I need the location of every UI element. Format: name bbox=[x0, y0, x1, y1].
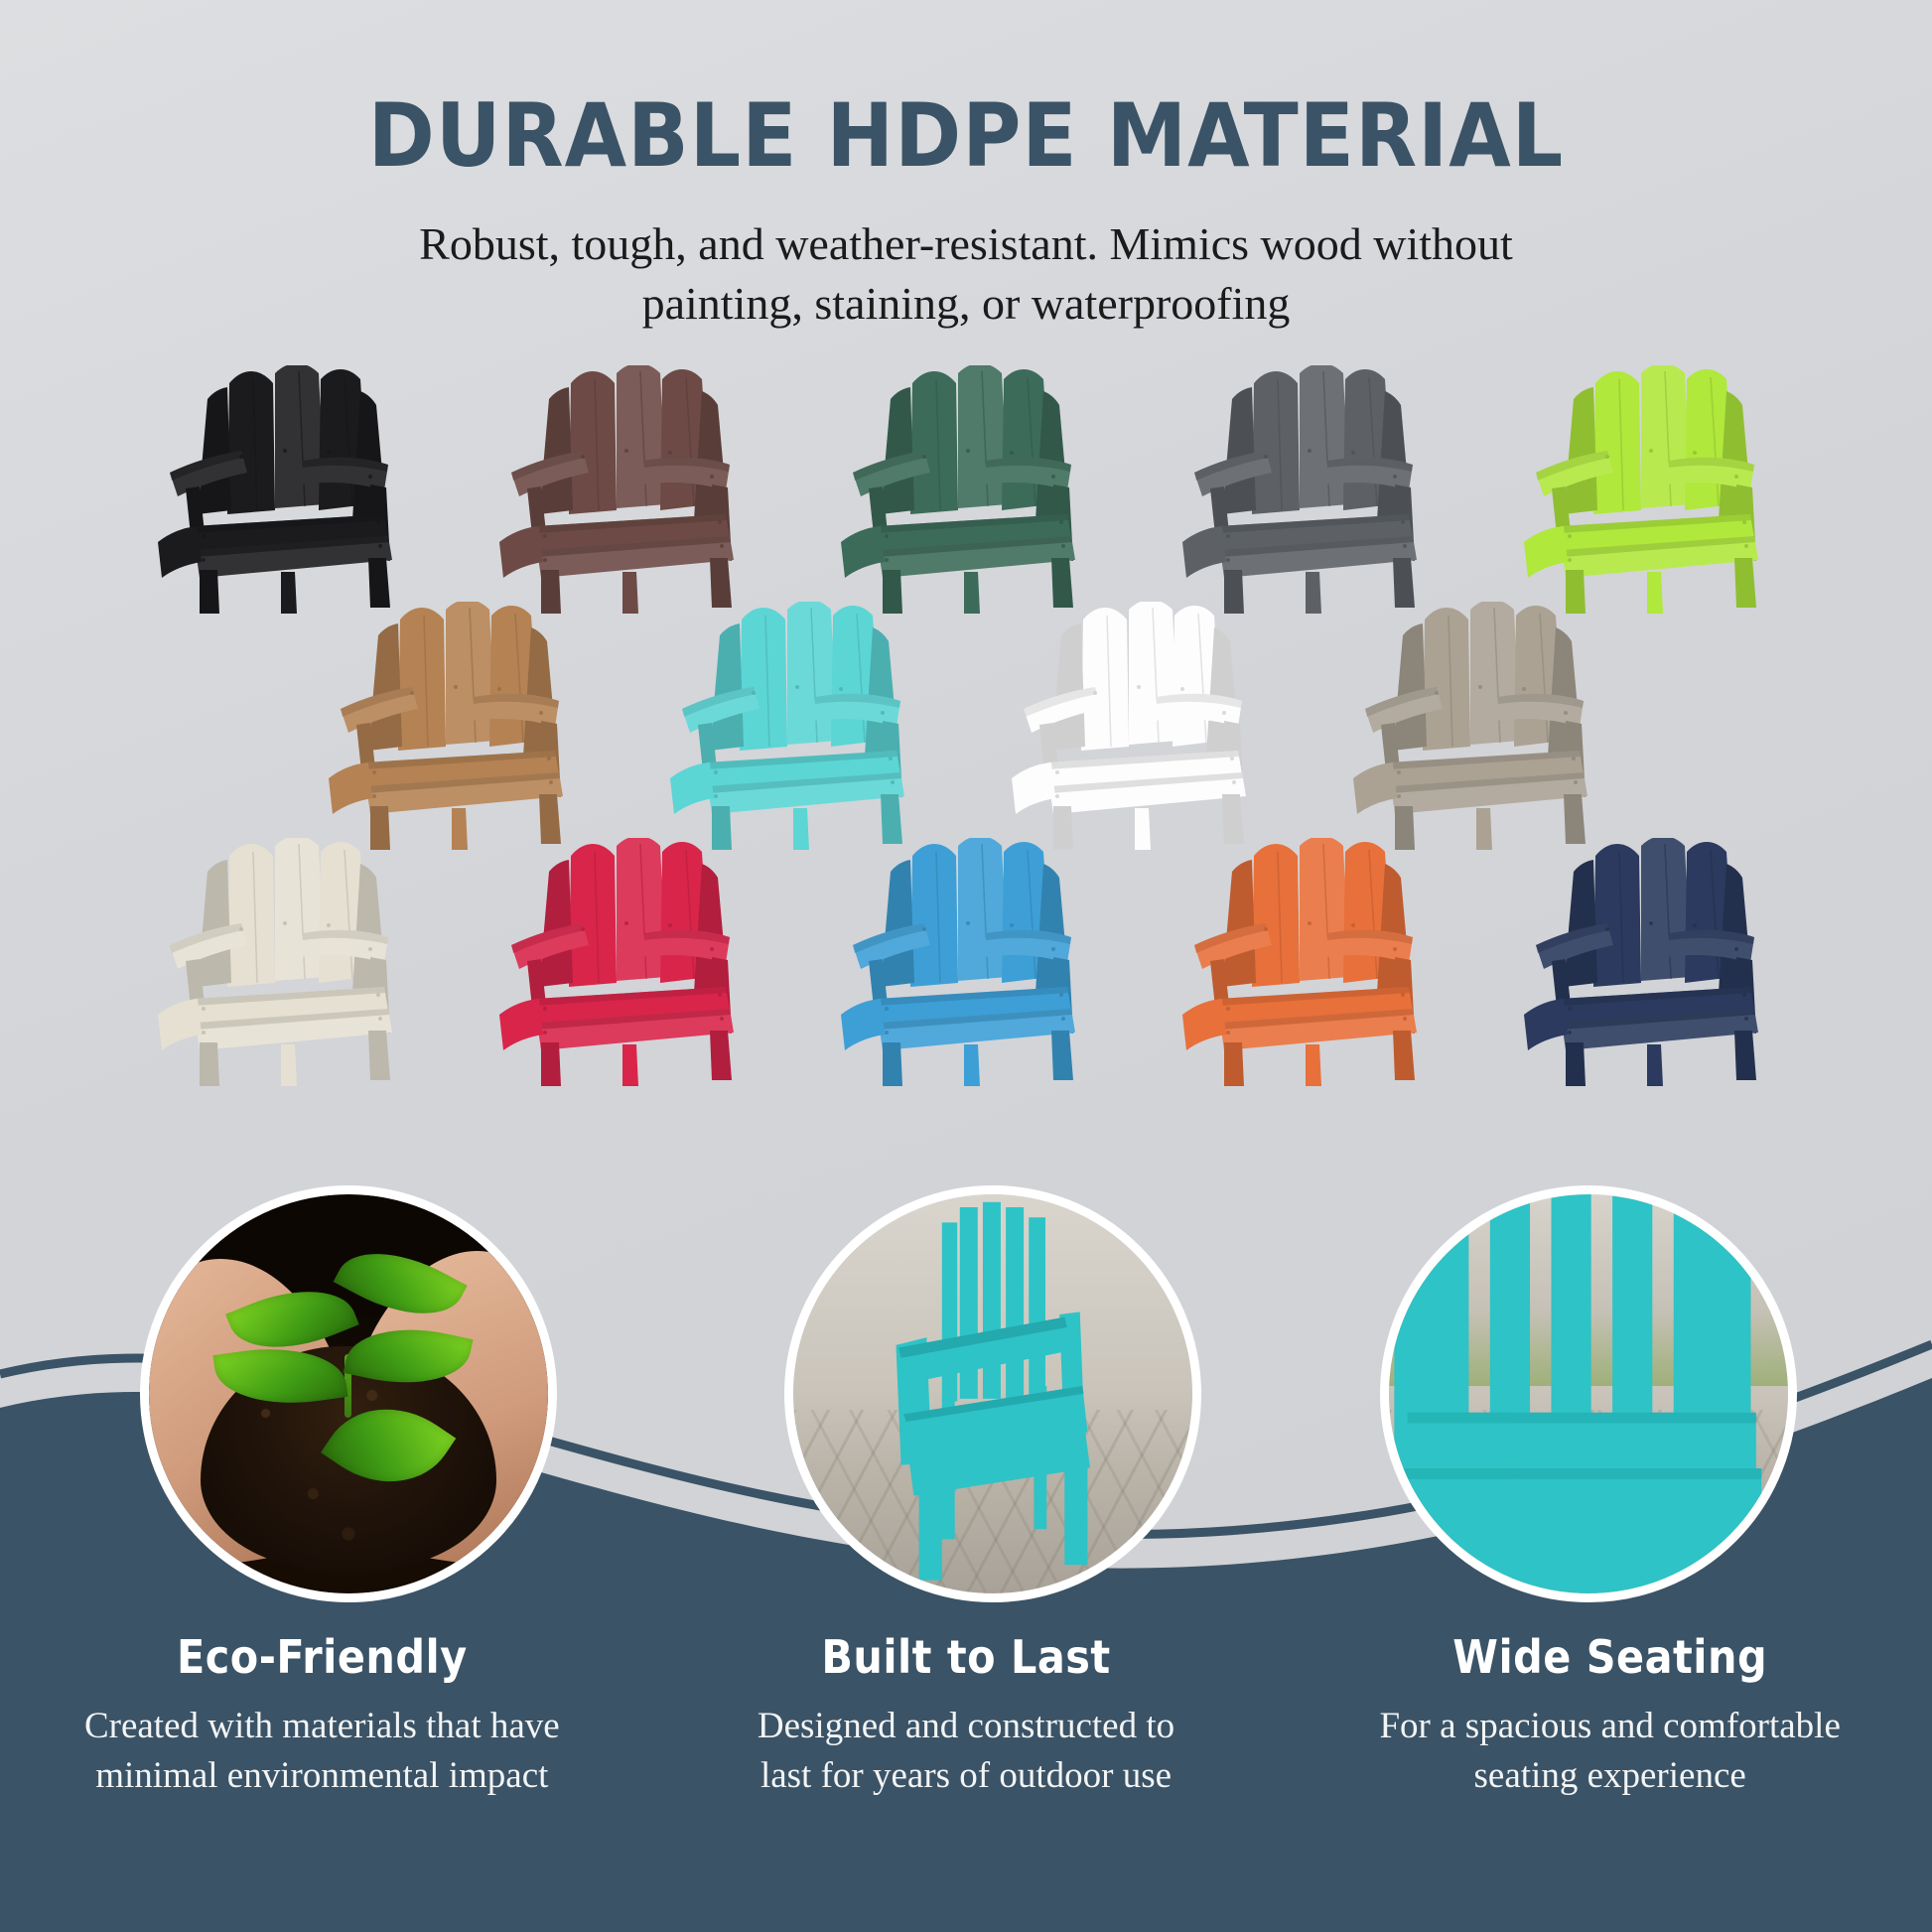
chair-swatch-orange[interactable] bbox=[1159, 838, 1456, 1086]
feature-eco-friendly: Eco-Friendly Created with materials that… bbox=[0, 1630, 644, 1800]
adirondack-chair-icon bbox=[817, 365, 1115, 614]
adirondack-chair-icon bbox=[817, 838, 1115, 1086]
adirondack-chair-icon bbox=[1500, 365, 1798, 614]
chair-swatch-red[interactable] bbox=[476, 838, 773, 1086]
chair-swatch-lime-green[interactable] bbox=[1500, 365, 1798, 614]
page-title: DURABLE HDPE MATERIAL bbox=[0, 91, 1932, 181]
feature-text-row: Eco-Friendly Created with materials that… bbox=[0, 1630, 1932, 1800]
hands-holding-seedling-photo bbox=[149, 1194, 548, 1593]
feature-desc-line-2: seating experience bbox=[1474, 1755, 1746, 1796]
turquoise-chair-wide-seat-closeup-photo bbox=[1389, 1194, 1788, 1593]
feature-desc-line-1: Created with materials that have bbox=[84, 1706, 560, 1746]
adirondack-chair-icon bbox=[476, 838, 773, 1086]
chair-swatch-turquoise[interactable] bbox=[646, 602, 944, 850]
chair-swatch-white[interactable] bbox=[988, 602, 1286, 850]
chair-swatch-dark-green[interactable] bbox=[817, 365, 1115, 614]
turquoise-chair-on-patio-photo bbox=[793, 1194, 1192, 1593]
chair-swatch-navy-blue[interactable] bbox=[1500, 838, 1798, 1086]
chair-swatch-light-blue[interactable] bbox=[817, 838, 1115, 1086]
adirondack-chair-icon bbox=[1329, 602, 1627, 850]
feature-built-to-last: Built to Last Designed and constructed t… bbox=[644, 1630, 1289, 1800]
feature-image-wide-seating bbox=[1380, 1185, 1797, 1602]
adirondack-chair-icon bbox=[134, 365, 432, 614]
adirondack-chair-icon bbox=[646, 602, 944, 850]
chair-swatch-brown[interactable] bbox=[476, 365, 773, 614]
feature-title: Wide Seating bbox=[1327, 1630, 1892, 1684]
adirondack-chair-icon bbox=[1159, 365, 1456, 614]
feature-image-eco-friendly bbox=[140, 1185, 557, 1602]
feature-desc-line-1: Designed and constructed to bbox=[758, 1706, 1174, 1746]
feature-title: Eco-Friendly bbox=[40, 1630, 605, 1684]
adirondack-chair-icon bbox=[1159, 838, 1456, 1086]
feature-description: For a spacious and comfortable seating e… bbox=[1327, 1702, 1892, 1800]
adirondack-chair-icon bbox=[305, 602, 603, 850]
feature-title: Built to Last bbox=[684, 1630, 1249, 1684]
chair-row-1 bbox=[0, 365, 1932, 614]
chair-swatch-black[interactable] bbox=[134, 365, 432, 614]
adirondack-chair-icon bbox=[476, 365, 773, 614]
feature-wide-seating: Wide Seating For a spacious and comforta… bbox=[1288, 1630, 1932, 1800]
feature-description: Designed and constructed to last for yea… bbox=[684, 1702, 1249, 1800]
chair-color-grid bbox=[0, 365, 1932, 1086]
header: DURABLE HDPE MATERIAL Robust, tough, and… bbox=[0, 91, 1932, 335]
chair-row-2 bbox=[0, 602, 1932, 850]
feature-desc-line-2: minimal environmental impact bbox=[95, 1755, 548, 1796]
adirondack-chair-icon bbox=[988, 602, 1286, 850]
chair-row-3 bbox=[0, 838, 1932, 1086]
turquoise-chair-seat-closeup-illustration bbox=[1389, 1194, 1788, 1593]
feature-image-built-to-last bbox=[784, 1185, 1201, 1602]
product-infographic-poster: DURABLE HDPE MATERIAL Robust, tough, and… bbox=[0, 0, 1932, 1932]
chair-swatch-taupe[interactable] bbox=[1329, 602, 1627, 850]
adirondack-chair-icon bbox=[134, 838, 432, 1086]
adirondack-chair-icon bbox=[1500, 838, 1798, 1086]
feature-desc-line-2: last for years of outdoor use bbox=[760, 1755, 1172, 1796]
subtitle-line-1: Robust, tough, and weather-resistant. Mi… bbox=[419, 218, 1513, 269]
page-subtitle: Robust, tough, and weather-resistant. Mi… bbox=[301, 214, 1631, 335]
chair-swatch-tan[interactable] bbox=[305, 602, 603, 850]
chair-swatch-gray[interactable] bbox=[1159, 365, 1456, 614]
chair-swatch-ivory[interactable] bbox=[134, 838, 432, 1086]
turquoise-chair-illustration bbox=[809, 1194, 1192, 1593]
feature-description: Created with materials that have minimal… bbox=[40, 1702, 605, 1800]
subtitle-line-2: painting, staining, or waterproofing bbox=[642, 278, 1291, 329]
feature-desc-line-1: For a spacious and comfortable bbox=[1379, 1706, 1840, 1746]
feature-circles bbox=[0, 1185, 1932, 1602]
